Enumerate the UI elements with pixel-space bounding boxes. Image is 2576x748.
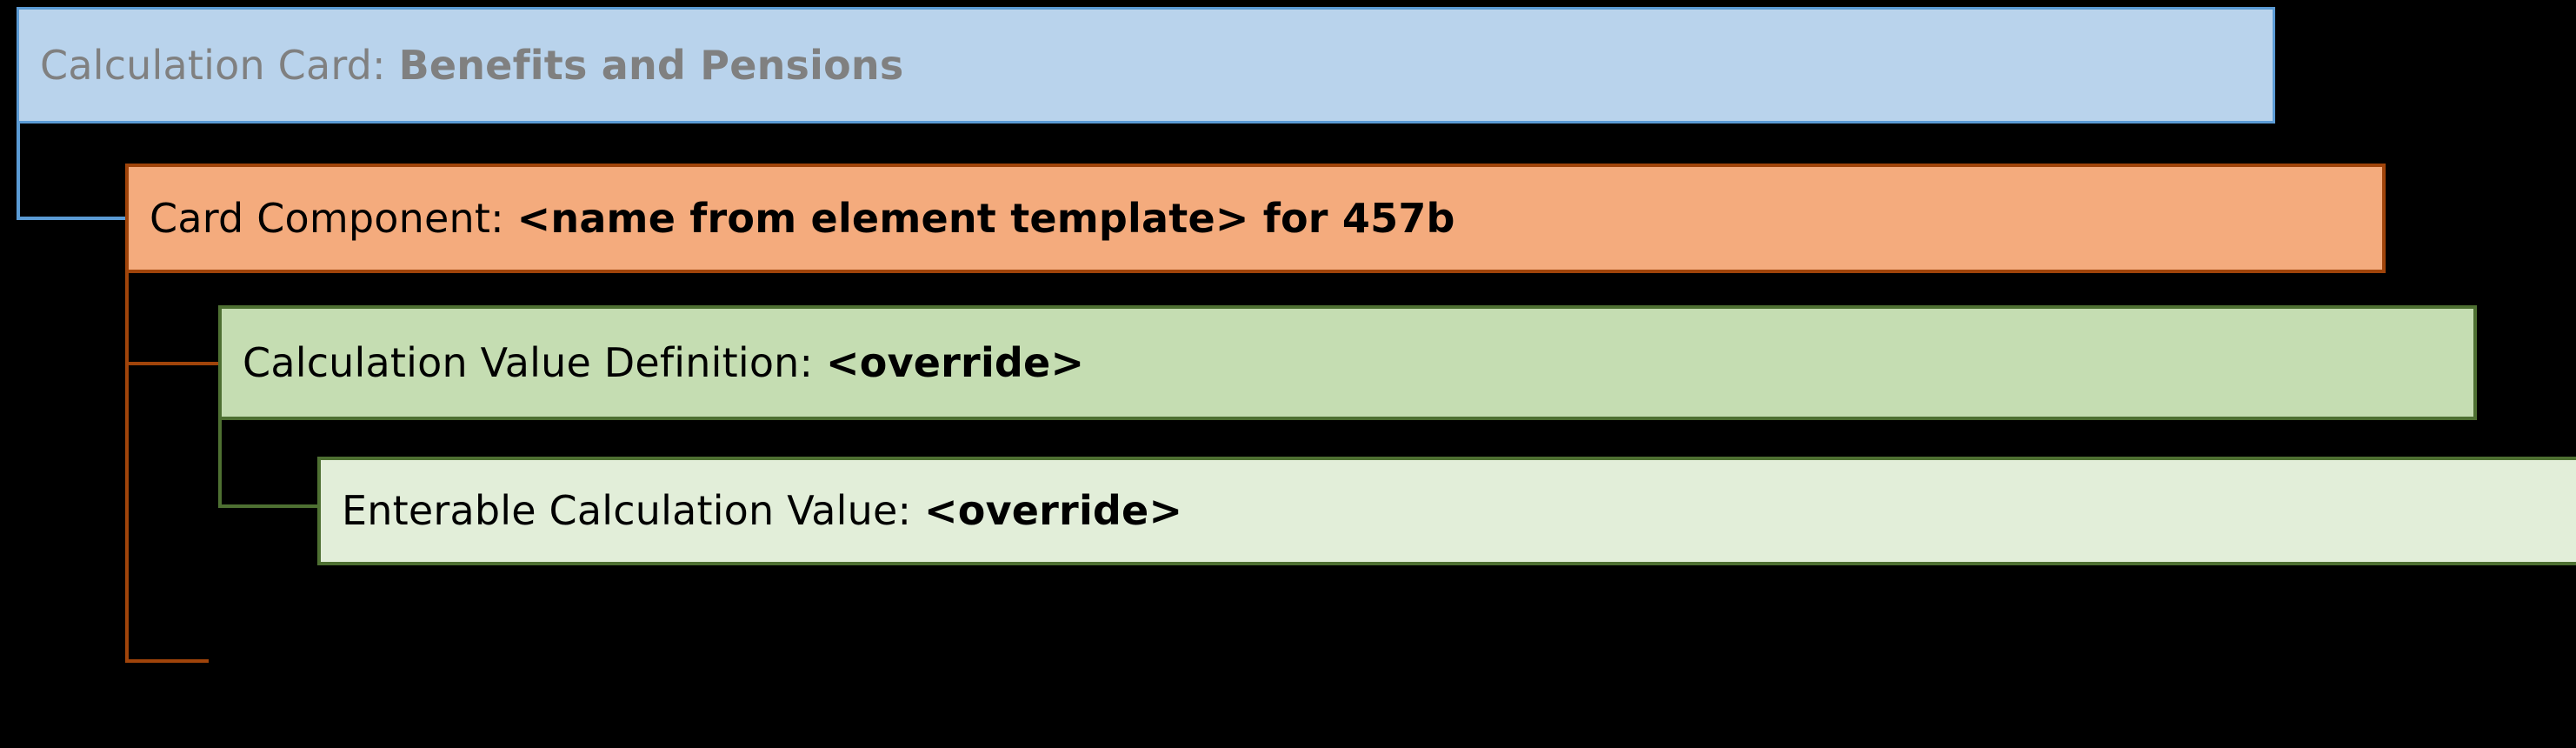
node-calculation-card-label: Calculation Card: Benefits and Pensions <box>40 43 903 88</box>
connector-card-component-to-calculation-value-definition <box>125 273 219 365</box>
node-calculation-card[interactable]: Calculation Card: Benefits and Pensions <box>17 7 2275 124</box>
node-calculation-value-definition-prefix: Calculation Value Definition: <box>243 339 826 386</box>
node-calculation-value-definition-value: <override> <box>826 339 1084 386</box>
connector-card-component-trailing-branch <box>125 365 209 663</box>
node-card-component-label: Card Component: <name from element templ… <box>150 197 1455 241</box>
connector-calculation-value-definition-to-enterable-calculation-value <box>218 420 318 508</box>
node-enterable-calculation-value-label: Enterable Calculation Value: <override> <box>342 489 1182 533</box>
node-calculation-card-value: Benefits and Pensions <box>399 42 904 89</box>
node-enterable-calculation-value-prefix: Enterable Calculation Value: <box>342 487 924 534</box>
node-calculation-value-definition-label: Calculation Value Definition: <override> <box>243 341 1084 385</box>
node-card-component-prefix: Card Component: <box>150 195 517 242</box>
node-card-component[interactable]: Card Component: <name from element templ… <box>125 164 2386 273</box>
node-enterable-calculation-value-value: <override> <box>924 487 1182 534</box>
node-calculation-value-definition[interactable]: Calculation Value Definition: <override> <box>218 305 2477 420</box>
node-card-component-value: <name from element template> for 457b <box>517 195 1455 242</box>
connector-calculation-card-to-card-component <box>17 124 125 220</box>
node-calculation-card-prefix: Calculation Card: <box>40 42 399 89</box>
diagram-canvas: Calculation Card: Benefits and Pensions … <box>0 0 2576 748</box>
node-enterable-calculation-value[interactable]: Enterable Calculation Value: <override> <box>317 457 2576 565</box>
